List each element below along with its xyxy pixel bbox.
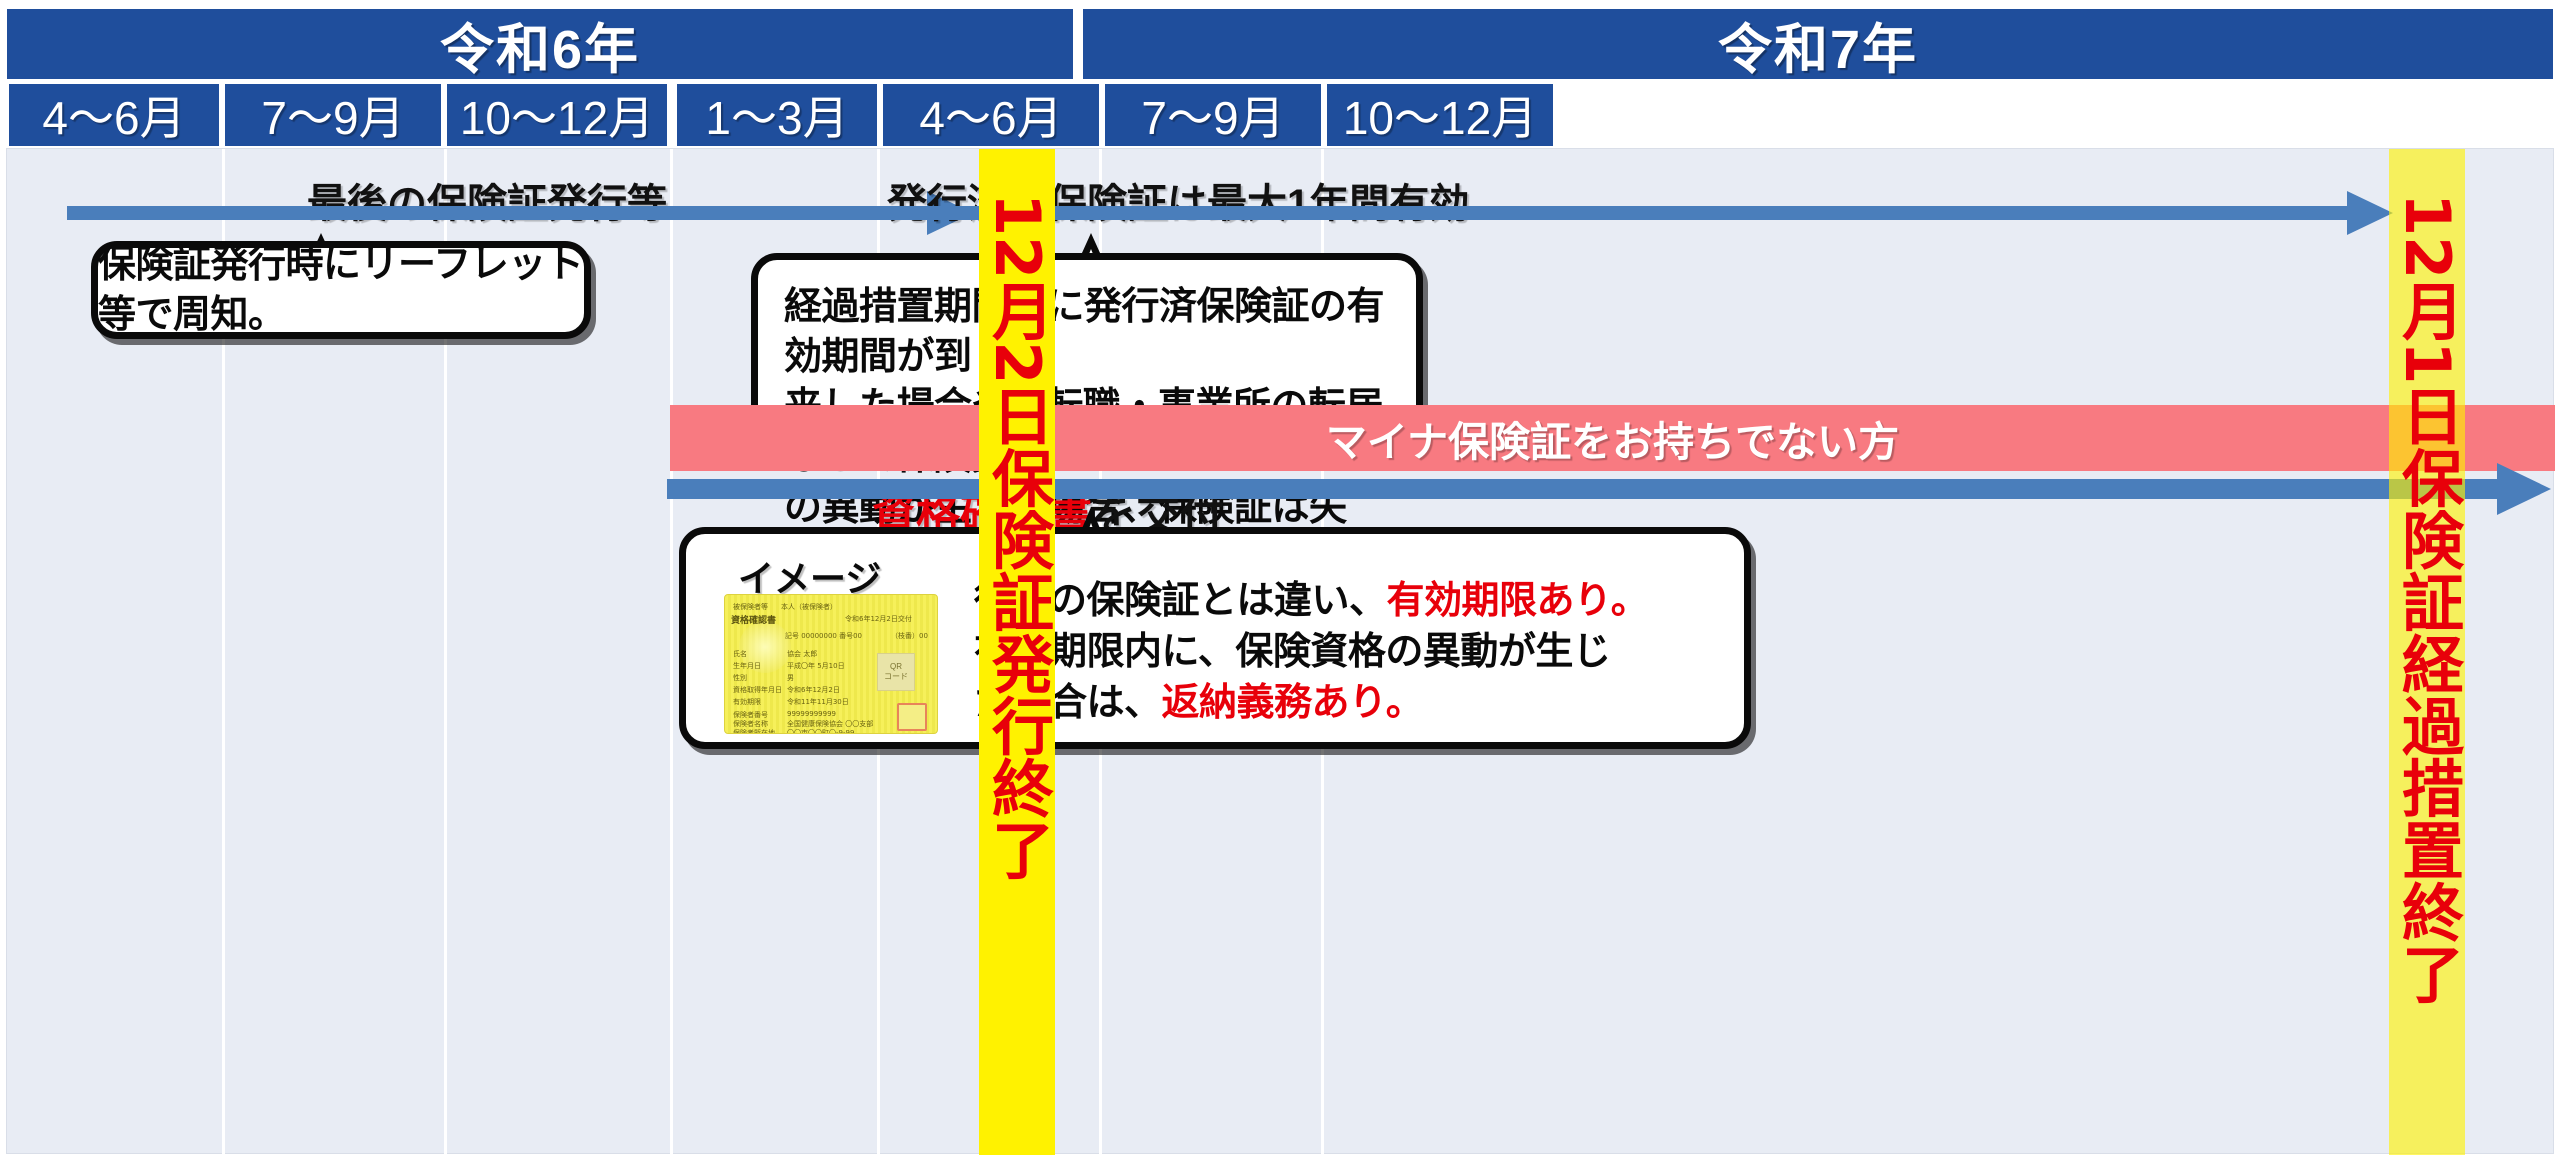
- card-row-label-3: 資格取得年月日: [733, 685, 782, 695]
- card-row-value-4: 令和11年11月30日: [787, 697, 849, 707]
- qr-label-line1: QR: [890, 662, 902, 672]
- banner-no-myna-card: マイナ保険証をお持ちでない方: [670, 405, 2555, 471]
- label-valid-one-year: 発行済み保険証は最大1年間有効: [887, 171, 1469, 229]
- gridline-3: [670, 149, 673, 1155]
- quarter-cell-1: 7～9月: [222, 84, 444, 146]
- card-highlight-box: [897, 703, 927, 731]
- quarter-cell-6: 10～12月: [1324, 84, 1556, 146]
- year-cell-reiwa6: 令和6年: [6, 8, 1074, 80]
- card-doc-title: 資格確認書: [731, 613, 776, 626]
- card-branch-label: （枝番）00: [891, 631, 928, 641]
- image-note-line3: た場合は、返納義務あり。: [974, 678, 1714, 729]
- callout-leaflet-text: 保険証発行時にリーフレット等で周知。: [98, 240, 584, 340]
- image-note-line1: 従来の保険証とは違い、有効期限あり。: [974, 576, 1714, 627]
- timeline-body: 最後の保険証発行等 発行済み保険証は最大1年間有効 保険証発行時にリーフレット等…: [6, 148, 2554, 1154]
- card-row-label-4: 有効期限: [733, 697, 761, 707]
- callout-leaflet: 保険証発行時にリーフレット等で周知。: [91, 241, 591, 339]
- arrow-head: [2347, 191, 2393, 235]
- card-number-label: 記号 00000000 番号00: [785, 631, 862, 641]
- milestone-band-dec2-2024-text: 12月2日保険証発行終了: [986, 193, 1048, 880]
- callout-image-note: イメージ 被保険者等 本人（被保険者） 資格確認書 令和6年12月2日交付 記号…: [679, 527, 1751, 749]
- card-row-label-1: 生年月日: [733, 661, 761, 671]
- card-footer-value-0: 99999999999: [787, 710, 836, 718]
- card-row-value-0: 協会 太郎: [787, 649, 817, 659]
- card-footer-value-2: 〇〇市〇〇町〇-9-99: [787, 728, 854, 734]
- quarter-cell-2: 10～12月: [444, 84, 670, 146]
- card-footer-label-2: 保険者所在地: [733, 728, 775, 734]
- card-row-value-3: 令和6年12月2日: [787, 685, 840, 695]
- card-row-label-2: 性別: [733, 673, 747, 683]
- image-note-line3-b: 返納義務あり。: [1162, 682, 1424, 724]
- quarter-cell-4: 4～6月: [880, 84, 1102, 146]
- card-type-label: 被保険者等: [733, 602, 768, 612]
- milestone-band-dec1-2025-text: 12月1日保険証経過措置終了: [2396, 193, 2458, 1004]
- qr-label-line2: コード: [884, 672, 908, 682]
- year-header-row: 令和6年 令和7年: [0, 8, 2560, 80]
- confirmation-document-sample-image: 被保険者等 本人（被保険者） 資格確認書 令和6年12月2日交付 記号 0000…: [724, 594, 938, 734]
- card-row-label-0: 氏名: [733, 649, 747, 659]
- card-row-value-2: 男: [787, 673, 794, 683]
- banner-no-myna-card-text: マイナ保険証をお持ちでない方: [1326, 408, 1899, 468]
- milestone-band-dec1-2025: 12月1日保険証経過措置終了: [2389, 149, 2465, 1155]
- arrow-head: [2497, 463, 2551, 515]
- quarter-cell-0: 4～6月: [6, 84, 222, 146]
- quarter-cell-3: 1～3月: [674, 84, 880, 146]
- quarter-cell-5: 7～9月: [1102, 84, 1324, 146]
- card-issue-date: 令和6年12月2日交付: [845, 614, 912, 624]
- card-holder-type: 本人（被保険者）: [781, 602, 837, 612]
- qr-code-icon: QR コード: [877, 653, 915, 691]
- milestone-band-dec2-2024: 12月2日保険証発行終了: [979, 149, 1055, 1155]
- image-note-line2: 有効期限内に、保険資格の異動が生じ: [974, 627, 1714, 678]
- year-cell-reiwa7: 令和7年: [1082, 8, 2554, 80]
- image-note-text: 従来の保険証とは違い、有効期限あり。 有効期限内に、保険資格の異動が生じ た場合…: [974, 576, 1714, 729]
- quarter-header-row: 4～6月 7～9月 10～12月 1～3月 4～6月 7～9月 10～12月: [0, 84, 2560, 146]
- callout-expiry-line1: 経過措置期間中に発行済保険証の有効期間が到: [784, 282, 1390, 382]
- image-note-line1-b: 有効期限あり。: [1387, 580, 1649, 622]
- label-last-issuance: 最後の保険証発行等: [307, 171, 667, 229]
- timeline-diagram: 令和6年 令和7年 4～6月 7～9月 10～12月 1～3月 4～6月 7～9…: [0, 0, 2560, 1162]
- arrow-shaft: [667, 479, 2497, 499]
- card-row-value-1: 平成〇年 5月10日: [787, 661, 845, 671]
- arrow-shaft: [679, 206, 2347, 220]
